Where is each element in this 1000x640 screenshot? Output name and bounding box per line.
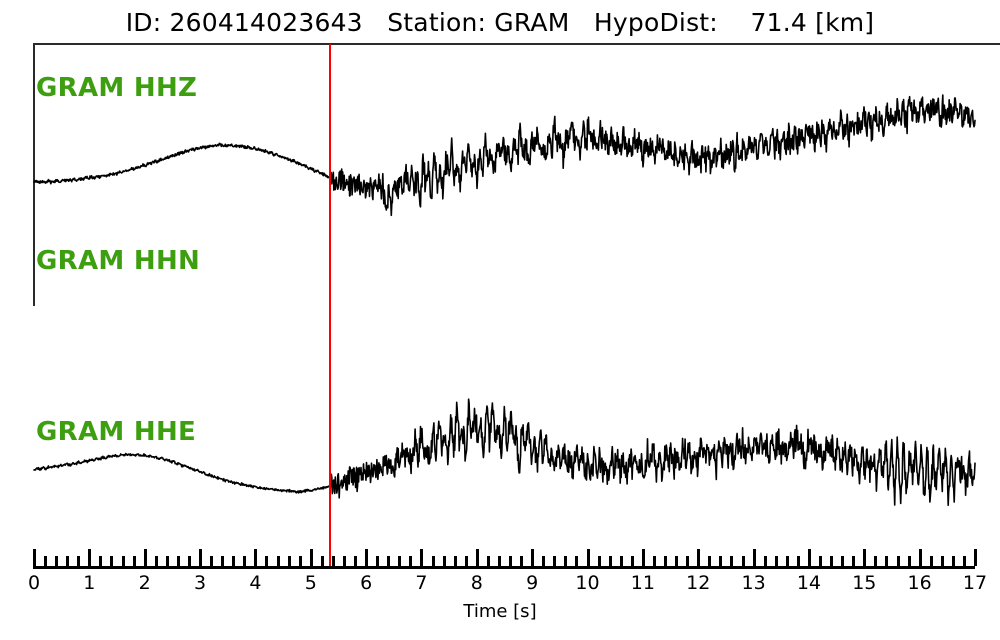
axis-tick-label: 1 xyxy=(83,572,95,594)
axis-tick-major xyxy=(642,549,645,566)
axis-tick-minor xyxy=(155,556,158,566)
axis-tick-minor xyxy=(277,556,280,566)
axis-tick-minor xyxy=(77,556,80,566)
axis-tick-label: 2 xyxy=(139,572,151,594)
axis-tick-minor xyxy=(653,556,656,566)
axis-tick-minor xyxy=(288,556,291,566)
axis-tick-minor xyxy=(874,556,877,566)
axis-tick-label: 14 xyxy=(797,572,821,594)
axis-tick-label: 16 xyxy=(908,572,932,594)
channel-label-hhz: GRAM HHZ xyxy=(36,73,197,103)
axis-tick-minor xyxy=(232,556,235,566)
axis-tick-label: 7 xyxy=(415,572,427,594)
axis-tick-label: 5 xyxy=(305,572,317,594)
axis-tick-major xyxy=(974,549,977,566)
axis-tick-label: 11 xyxy=(631,572,655,594)
axis-tick-label: 10 xyxy=(575,572,599,594)
axis-tick-minor xyxy=(110,556,113,566)
axis-tick-minor xyxy=(265,556,268,566)
axis-tick-label: 4 xyxy=(249,572,261,594)
axis-tick-minor xyxy=(598,556,601,566)
axis-tick-minor xyxy=(830,556,833,566)
axis-tick-major xyxy=(863,549,866,566)
axis-tick-minor xyxy=(675,556,678,566)
axis-tick-major xyxy=(365,549,368,566)
axis-tick-minor xyxy=(332,556,335,566)
axis-tick-label: 0 xyxy=(28,572,40,594)
axis-tick-minor xyxy=(609,556,612,566)
axis-tick-minor xyxy=(188,556,191,566)
axis-tick-major xyxy=(310,549,313,566)
axis-tick-label: 17 xyxy=(963,572,987,594)
axis-tick-minor xyxy=(819,556,822,566)
axis-tick-major xyxy=(476,549,479,566)
axis-tick-minor xyxy=(299,556,302,566)
axis-tick-minor xyxy=(454,556,457,566)
axis-tick-minor xyxy=(133,556,136,566)
waveform-trace-hhe xyxy=(34,399,975,505)
axis-tick-minor xyxy=(542,556,545,566)
axis-tick-minor xyxy=(443,556,446,566)
axis-tick-label: 8 xyxy=(471,572,483,594)
axis-tick-minor xyxy=(852,556,855,566)
axis-tick-minor xyxy=(941,556,944,566)
axis-tick-minor xyxy=(963,556,966,566)
channel-label-hhe: GRAM HHE xyxy=(36,417,196,447)
axis-tick-minor xyxy=(99,556,102,566)
axis-tick-major xyxy=(420,549,423,566)
axis-tick-major xyxy=(33,549,36,566)
axis-tick-minor xyxy=(775,556,778,566)
x-axis-label: Time [s] xyxy=(0,601,1000,622)
axis-tick-minor xyxy=(66,556,69,566)
axis-tick-minor xyxy=(409,556,412,566)
p-pick-line xyxy=(329,44,331,566)
axis-tick-minor xyxy=(210,556,213,566)
axis-tick-major xyxy=(199,549,202,566)
axis-tick-label: 6 xyxy=(360,572,372,594)
axis-tick-minor xyxy=(575,556,578,566)
axis-tick-minor xyxy=(952,556,955,566)
axis-tick-minor xyxy=(719,556,722,566)
axis-tick-major xyxy=(254,549,257,566)
axis-tick-minor xyxy=(398,556,401,566)
axis-tick-label: 9 xyxy=(526,572,538,594)
axis-tick-minor xyxy=(930,556,933,566)
axis-tick-minor xyxy=(376,556,379,566)
axis-tick-minor xyxy=(166,556,169,566)
axis-tick-minor xyxy=(764,556,767,566)
axis-tick-minor xyxy=(55,556,58,566)
time-axis-line xyxy=(33,566,975,569)
axis-tick-minor xyxy=(620,556,623,566)
axis-tick-major xyxy=(88,549,91,566)
axis-tick-minor xyxy=(708,556,711,566)
axis-tick-minor xyxy=(465,556,468,566)
axis-tick-major xyxy=(587,549,590,566)
axis-tick-minor xyxy=(498,556,501,566)
axis-tick-minor xyxy=(908,556,911,566)
axis-tick-minor xyxy=(520,556,523,566)
axis-tick-minor xyxy=(177,556,180,566)
axis-tick-minor xyxy=(354,556,357,566)
axis-tick-minor xyxy=(243,556,246,566)
axis-tick-major xyxy=(919,549,922,566)
axis-tick-major xyxy=(753,549,756,566)
axis-tick-minor xyxy=(786,556,789,566)
axis-tick-label: 3 xyxy=(194,572,206,594)
axis-tick-label: 15 xyxy=(852,572,876,594)
axis-tick-minor xyxy=(44,556,47,566)
waveform-trace-hhz xyxy=(34,95,975,215)
seismogram-figure: ID: 260414023643 Station: GRAM HypoDist:… xyxy=(0,0,1000,640)
axis-tick-minor xyxy=(221,556,224,566)
axis-tick-minor xyxy=(897,556,900,566)
axis-tick-minor xyxy=(509,556,512,566)
axis-tick-minor xyxy=(797,556,800,566)
axis-tick-major xyxy=(531,549,534,566)
axis-tick-minor xyxy=(432,556,435,566)
axis-tick-minor xyxy=(631,556,634,566)
axis-tick-label: 12 xyxy=(686,572,710,594)
axis-tick-minor xyxy=(343,556,346,566)
axis-tick-minor xyxy=(686,556,689,566)
axis-tick-major xyxy=(808,549,811,566)
axis-tick-minor xyxy=(321,556,324,566)
axis-tick-minor xyxy=(553,556,556,566)
axis-tick-minor xyxy=(841,556,844,566)
axis-tick-minor xyxy=(387,556,390,566)
channel-label-hhn: GRAM HHN xyxy=(36,246,200,276)
axis-tick-minor xyxy=(885,556,888,566)
axis-tick-minor xyxy=(742,556,745,566)
axis-tick-minor xyxy=(730,556,733,566)
axis-tick-minor xyxy=(664,556,667,566)
axis-tick-minor xyxy=(122,556,125,566)
axis-tick-minor xyxy=(564,556,567,566)
axis-tick-label: 13 xyxy=(741,572,765,594)
axis-tick-major xyxy=(144,549,147,566)
axis-tick-major xyxy=(697,549,700,566)
axis-tick-minor xyxy=(487,556,490,566)
